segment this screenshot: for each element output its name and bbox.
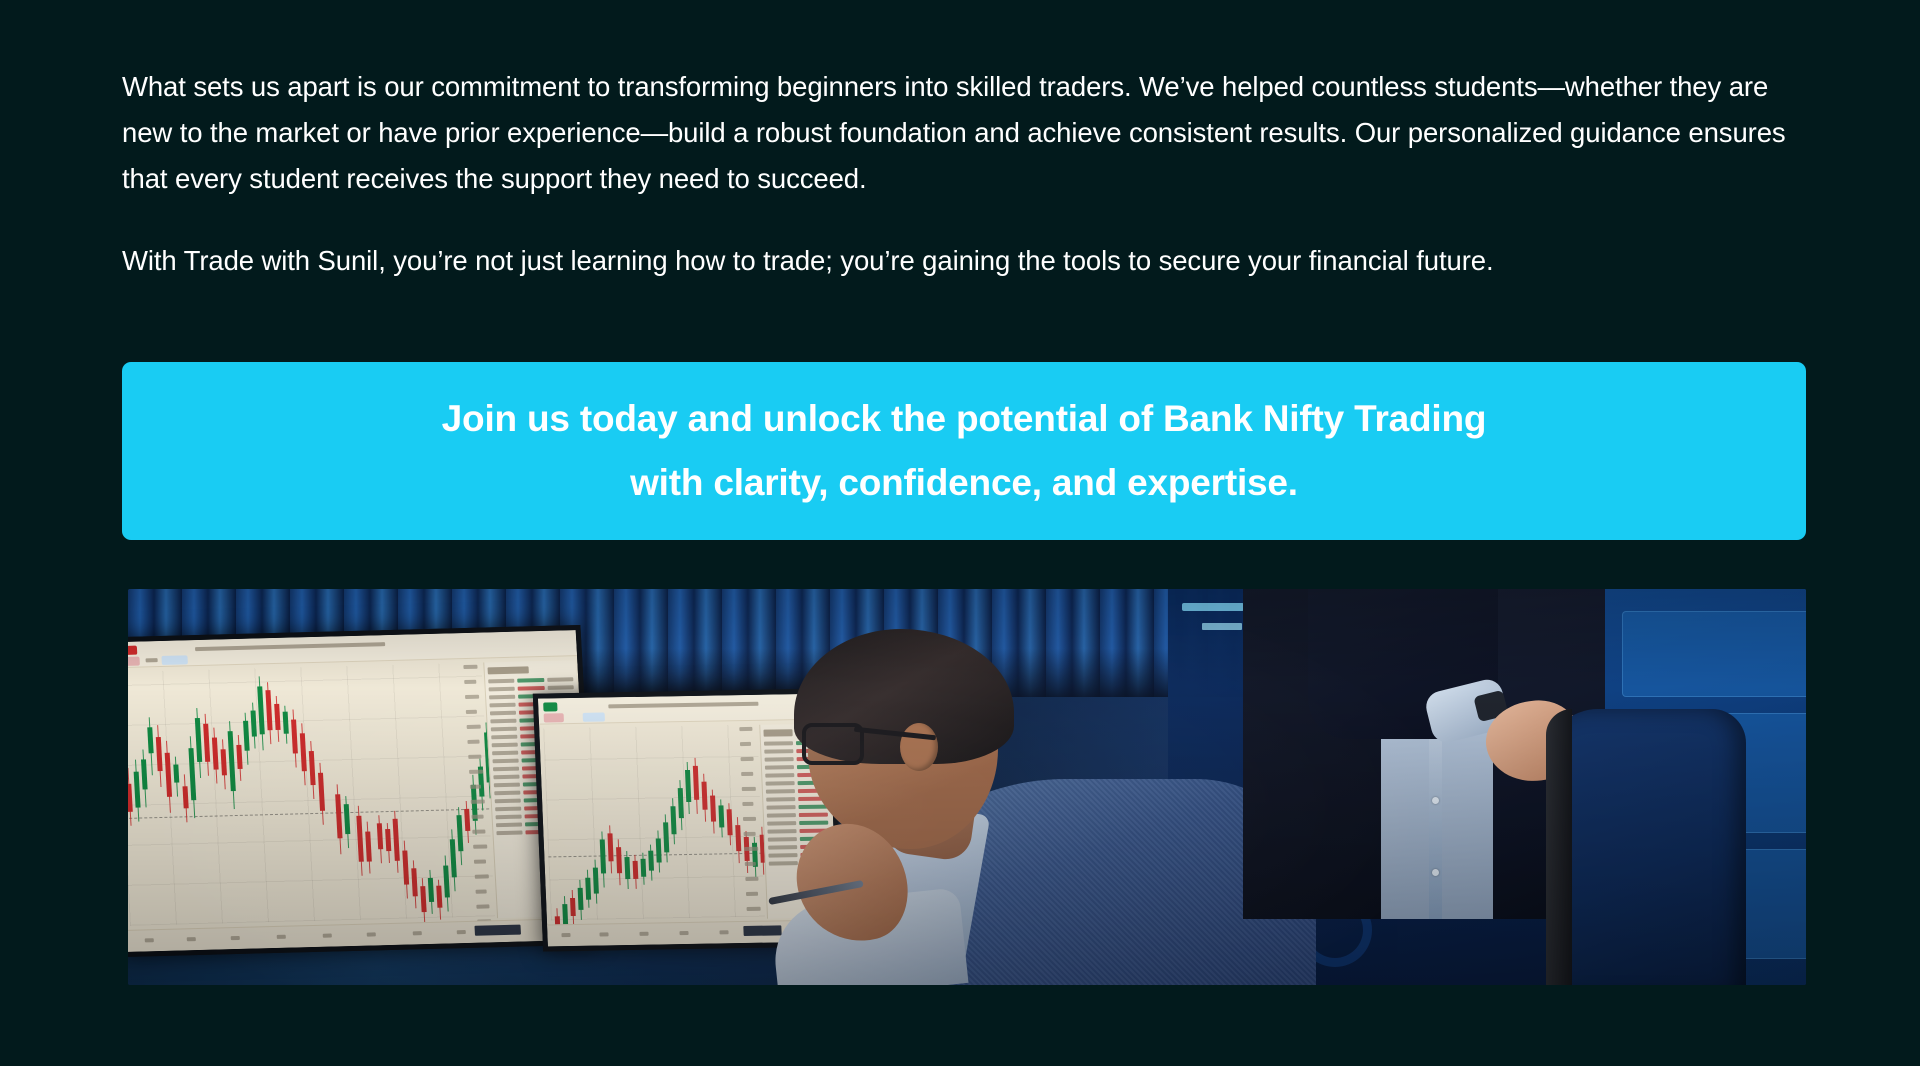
office-chair	[1546, 709, 1746, 985]
trader-glasses	[802, 723, 920, 767]
cta-banner[interactable]: Join us today and unlock the potential o…	[122, 362, 1806, 540]
paragraph-closing: With Trade with Sunil, you’re not just l…	[122, 238, 1806, 284]
cta-line-1: Join us today and unlock the potential o…	[442, 387, 1487, 451]
page-root: What sets us apart is our commitment to …	[0, 0, 1920, 1066]
monitor-left	[128, 625, 598, 957]
paragraph-about: What sets us apart is our commitment to …	[122, 64, 1806, 202]
candlestick-series-center	[543, 725, 765, 921]
monitor-left-screen	[128, 630, 592, 952]
body-copy: What sets us apart is our commitment to …	[122, 64, 1806, 284]
chart-grid	[128, 663, 495, 926]
chair-edge	[1546, 709, 1572, 985]
candlestick-series-left	[128, 663, 495, 926]
cta-line-2: with clarity, confidence, and expertise.	[630, 451, 1298, 515]
trading-room-photo	[128, 589, 1806, 985]
photo-background	[128, 589, 1806, 985]
chart-grid-center	[543, 725, 765, 921]
